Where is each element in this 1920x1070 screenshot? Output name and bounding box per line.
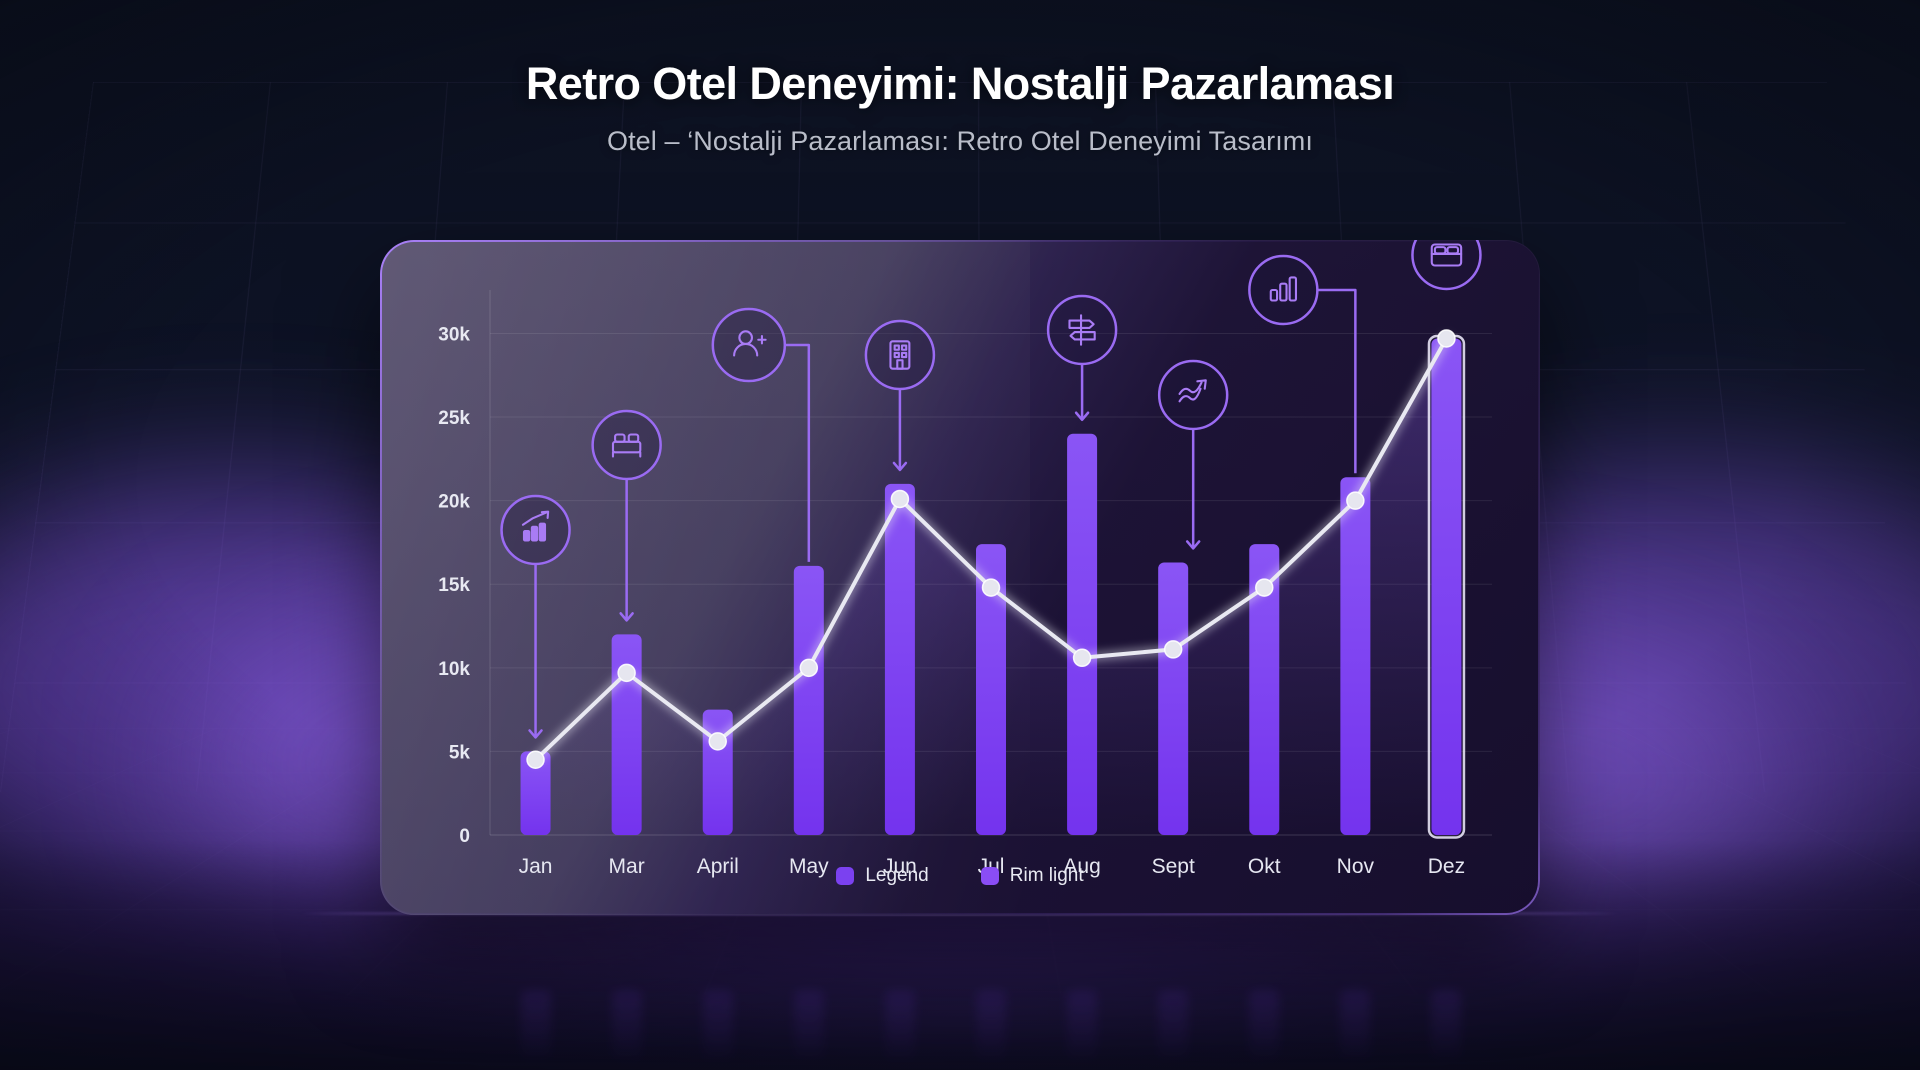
card-reflection — [380, 916, 1540, 1066]
line-marker[interactable] — [1165, 641, 1182, 658]
y-axis-tick-label: 0 — [459, 826, 470, 847]
line-marker[interactable] — [800, 659, 817, 676]
annotation-badge[interactable] — [593, 411, 661, 620]
reflection-bar — [976, 991, 1006, 1066]
annotation-circle — [593, 411, 661, 479]
chart-bar[interactable] — [1067, 434, 1097, 835]
chart-bar[interactable] — [1158, 562, 1188, 835]
y-axis-tick-label: 25k — [438, 408, 470, 429]
annotation-circle — [1249, 256, 1317, 324]
line-marker[interactable] — [1074, 649, 1091, 666]
chart-legend: Legend Rim light — [380, 865, 1540, 887]
chart-bar[interactable] — [885, 484, 915, 835]
y-axis-tick-label: 5k — [449, 742, 471, 763]
annotation-badge[interactable] — [502, 496, 570, 737]
annotation-badge[interactable] — [1412, 240, 1480, 289]
y-axis-tick-label: 10k — [438, 659, 470, 680]
page-subtitle: Otel – ‘Nostalji Pazarlaması: Retro Otel… — [0, 126, 1920, 157]
annotation-badge[interactable] — [1249, 256, 1355, 473]
annotation-connector — [785, 345, 809, 562]
reflection-bar — [703, 991, 733, 1066]
line-marker[interactable] — [527, 751, 544, 768]
legend-item-label: Legend — [865, 865, 928, 887]
chart-bar[interactable] — [1340, 477, 1370, 835]
reflection-bar — [1249, 991, 1279, 1066]
line-marker[interactable] — [618, 664, 635, 681]
reflection-bar — [1158, 991, 1188, 1066]
scene-backdrop: Retro Otel Deneyimi: Nostalji Pazarlamas… — [0, 0, 1920, 1070]
reflection-bar — [1067, 991, 1097, 1066]
header: Retro Otel Deneyimi: Nostalji Pazarlamas… — [0, 58, 1920, 157]
reflection-bar — [885, 991, 915, 1066]
annotation-badge[interactable] — [866, 321, 934, 470]
annotation-badge[interactable] — [1159, 361, 1227, 548]
chart-card: 05k10k15k20k25k30kJanMarAprilMayJunJulAu… — [380, 240, 1540, 915]
reflection-bar — [1431, 991, 1461, 1066]
line-marker[interactable] — [1347, 492, 1364, 509]
reflection-bar — [521, 991, 551, 1066]
chart-bar[interactable] — [1431, 338, 1461, 835]
reflection-bar — [794, 991, 824, 1066]
legend-item[interactable]: Rim light — [981, 865, 1084, 887]
reflection-bar — [612, 991, 642, 1066]
card-surface: 05k10k15k20k25k30kJanMarAprilMayJunJulAu… — [380, 240, 1540, 915]
legend-swatch-icon — [981, 867, 999, 885]
legend-item[interactable]: Legend — [836, 865, 928, 887]
annotation-circle — [1159, 361, 1227, 429]
annotation-badge[interactable] — [713, 309, 809, 562]
page-title: Retro Otel Deneyimi: Nostalji Pazarlamas… — [0, 58, 1920, 110]
y-axis-tick-label: 15k — [438, 575, 470, 596]
line-marker[interactable] — [891, 490, 908, 507]
line-marker[interactable] — [709, 733, 726, 750]
y-axis-tick-label: 20k — [438, 492, 470, 513]
line-marker[interactable] — [1256, 579, 1273, 596]
line-marker[interactable] — [1438, 330, 1455, 347]
annotation-badge[interactable] — [1048, 296, 1116, 420]
y-axis-tick-label: 30k — [438, 324, 470, 345]
chart-bar[interactable] — [703, 710, 733, 835]
legend-item-label: Rim light — [1010, 865, 1084, 887]
reflection-bars — [380, 991, 1540, 1066]
chart-plot-area: 05k10k15k20k25k30kJanMarAprilMayJunJulAu… — [380, 240, 1540, 915]
annotation-connector — [1317, 290, 1355, 473]
combo-chart[interactable]: 05k10k15k20k25k30kJanMarAprilMayJunJulAu… — [380, 240, 1540, 915]
reflection-bar — [1340, 991, 1370, 1066]
chart-bar[interactable] — [794, 566, 824, 835]
legend-swatch-icon — [836, 867, 854, 885]
line-marker[interactable] — [983, 579, 1000, 596]
